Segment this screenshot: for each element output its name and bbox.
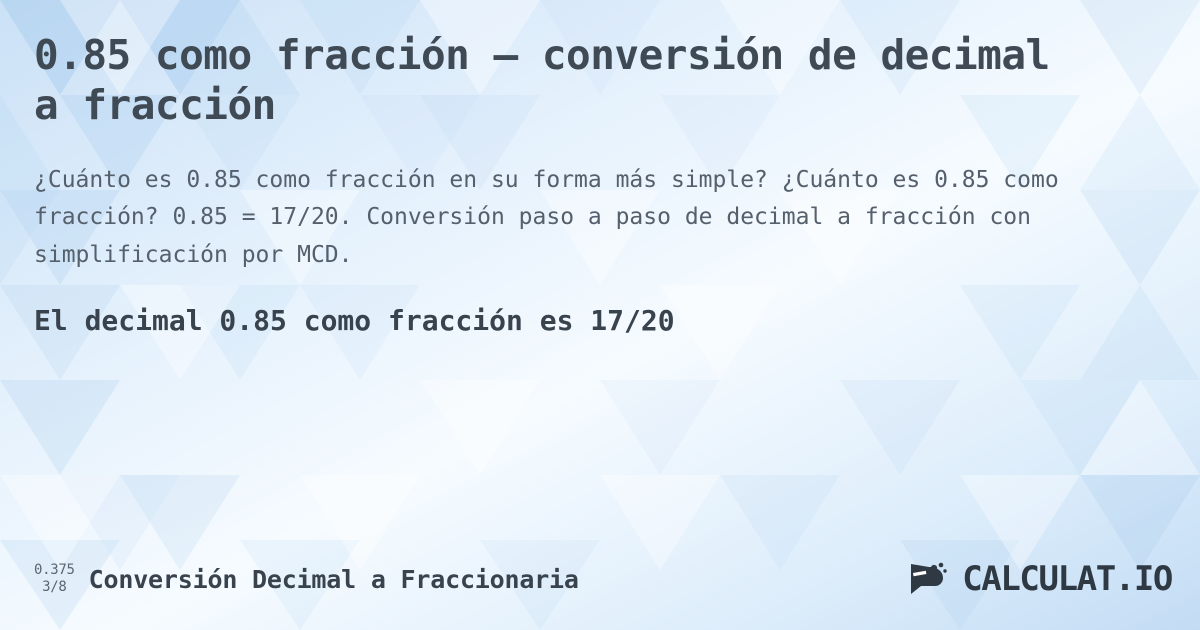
fraction-numerator: 0.375 (34, 562, 75, 580)
footer-left-group: 0.375 3/8 Conversión Decimal a Fracciona… (34, 562, 579, 597)
fraction-denominator: 3/8 (42, 579, 66, 597)
brand-name: CALCULAT.IO (962, 559, 1172, 599)
answer-statement: El decimal 0.85 como fracción es 17/20 (34, 304, 1166, 337)
footer: 0.375 3/8 Conversión Decimal a Fracciona… (34, 554, 1172, 604)
page-description: ¿Cuánto es 0.85 como fracción en su form… (34, 162, 1089, 274)
fraction-example-icon: 0.375 3/8 (34, 562, 75, 597)
page-root: 0.85 como fracción – conversión de decim… (0, 0, 1200, 630)
brand-logo: CALCULAT.IO (907, 559, 1172, 599)
footer-label: Conversión Decimal a Fraccionaria (89, 565, 579, 594)
page-title: 0.85 como fracción – conversión de decim… (34, 30, 1074, 130)
content-area: 0.85 como fracción – conversión de decim… (0, 0, 1200, 630)
calculator-bird-icon (907, 560, 953, 598)
